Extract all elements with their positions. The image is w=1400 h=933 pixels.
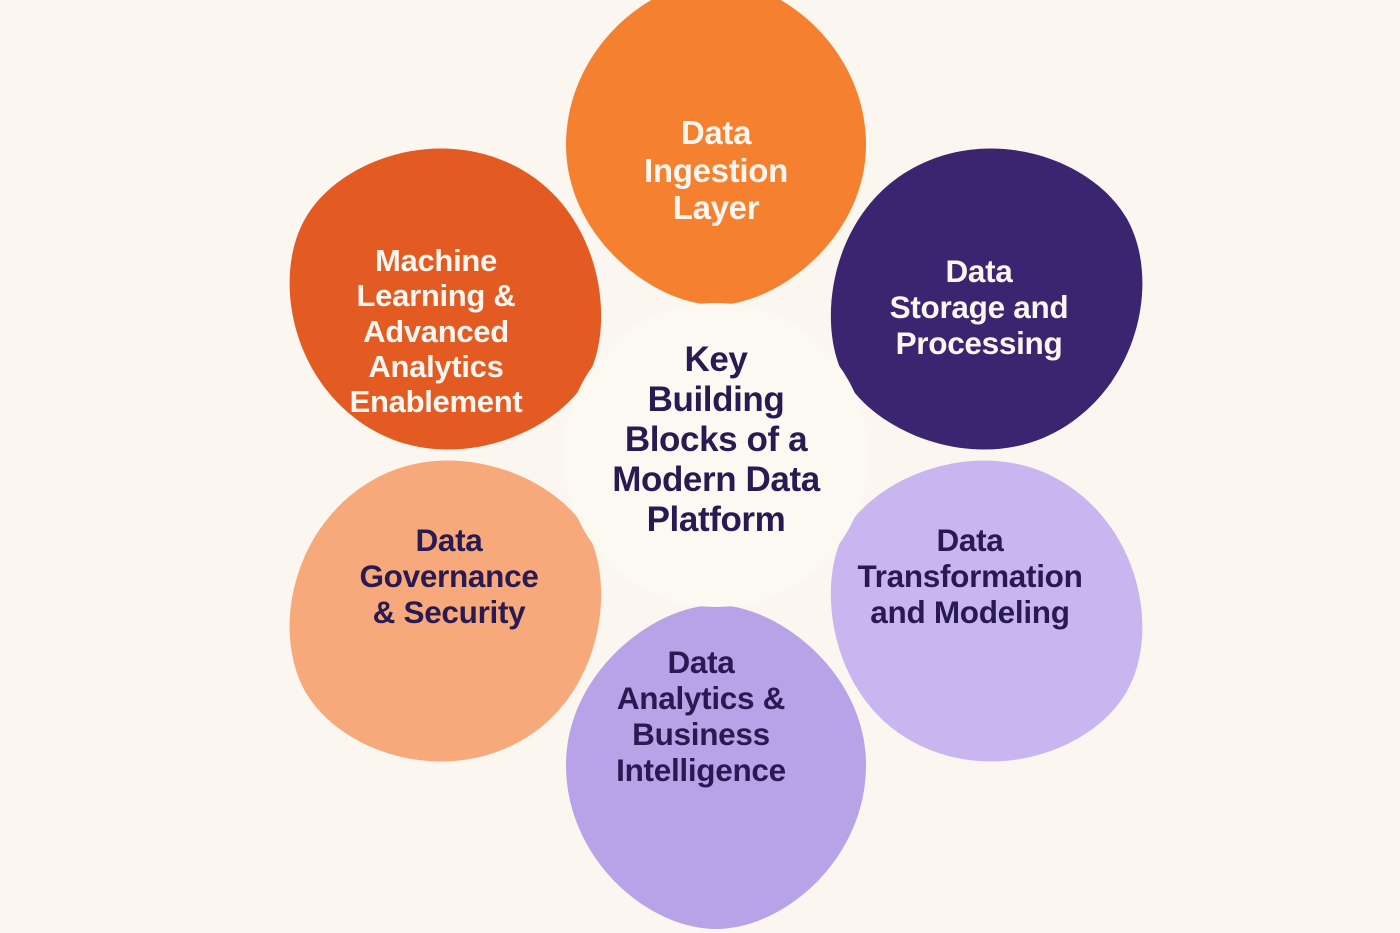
flower-petal-graphic [0, 0, 1400, 933]
petal-data-analytics-and-business-intelligence[interactable] [566, 605, 866, 929]
petal-data-ingestion-layer[interactable] [566, 0, 866, 305]
center-hub-circle[interactable] [564, 303, 868, 607]
diagram-canvas: Data Ingestion Layer Data Storage and Pr… [0, 0, 1400, 933]
